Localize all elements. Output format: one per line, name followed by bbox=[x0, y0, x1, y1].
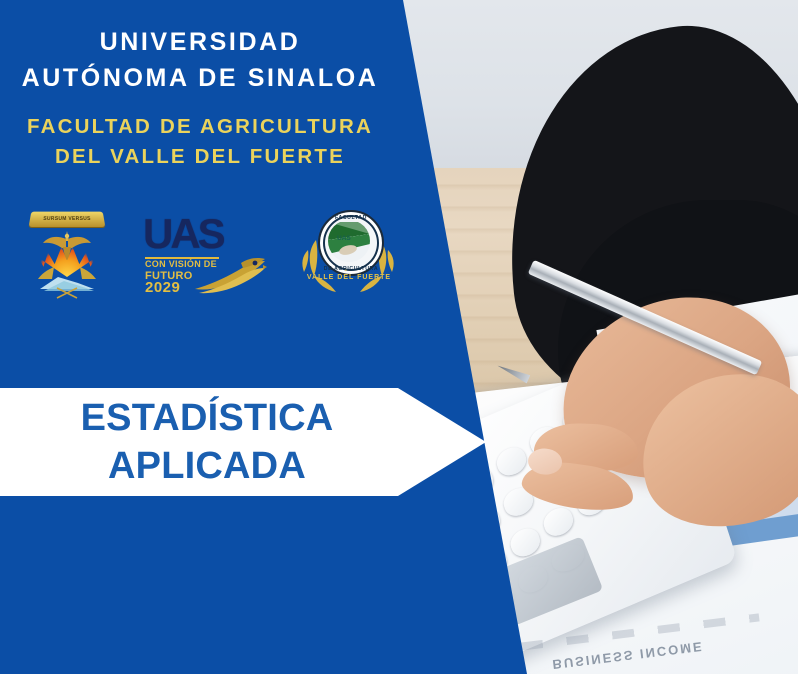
escudo-banner-icon: SURSUM VERSUS bbox=[29, 212, 106, 227]
escudo-banner-text: SURSUM VERSUS bbox=[29, 212, 106, 227]
subject-title-line1: ESTADÍSTICA bbox=[81, 394, 334, 442]
logo-row: SURSUM VERSUS UAS bbox=[26, 204, 396, 304]
seal-base-text: VALLE DEL FUERTE bbox=[306, 274, 392, 281]
faculty-seal-icon: FACULTAD UAS DE AGRICULTURA • VALLE DEL … bbox=[300, 206, 396, 302]
escudo-tools-icon bbox=[56, 287, 78, 299]
subject-arrow-banner: ESTADÍSTICA APLICADA bbox=[0, 388, 486, 496]
uas-escudo-icon: SURSUM VERSUS bbox=[26, 205, 108, 303]
uas-wordmark-icon: UAS CON VISIÓN DE FUTURO 2029 bbox=[143, 213, 265, 295]
subject-title-line2: APLICADA bbox=[108, 442, 306, 490]
faculty-name-line1: FACULTAD DE AGRICULTURA bbox=[0, 112, 400, 142]
university-name-line2: AUTÓNOMA DE SINALOA bbox=[0, 60, 400, 96]
seal-outer-ring: FACULTAD UAS DE AGRICULTURA bbox=[318, 210, 384, 276]
slide-root: BUSINESS INCOME UNIVERSIDAD AUTÓNOMA DE … bbox=[0, 0, 798, 674]
uas-eagle-head-icon bbox=[193, 249, 267, 295]
faculty-name-line2: DEL VALLE DEL FUERTE bbox=[0, 142, 400, 172]
svg-text:UAS: UAS bbox=[337, 235, 351, 242]
escudo-eagle-icon bbox=[42, 227, 92, 261]
seal-ring-text-bottom: DE AGRICULTURA bbox=[320, 266, 382, 272]
university-name-line1: UNIVERSIDAD bbox=[0, 24, 400, 60]
title-block: UNIVERSIDAD AUTÓNOMA DE SINALOA FACULTAD… bbox=[0, 24, 400, 172]
seal-shield: UAS bbox=[328, 220, 370, 262]
